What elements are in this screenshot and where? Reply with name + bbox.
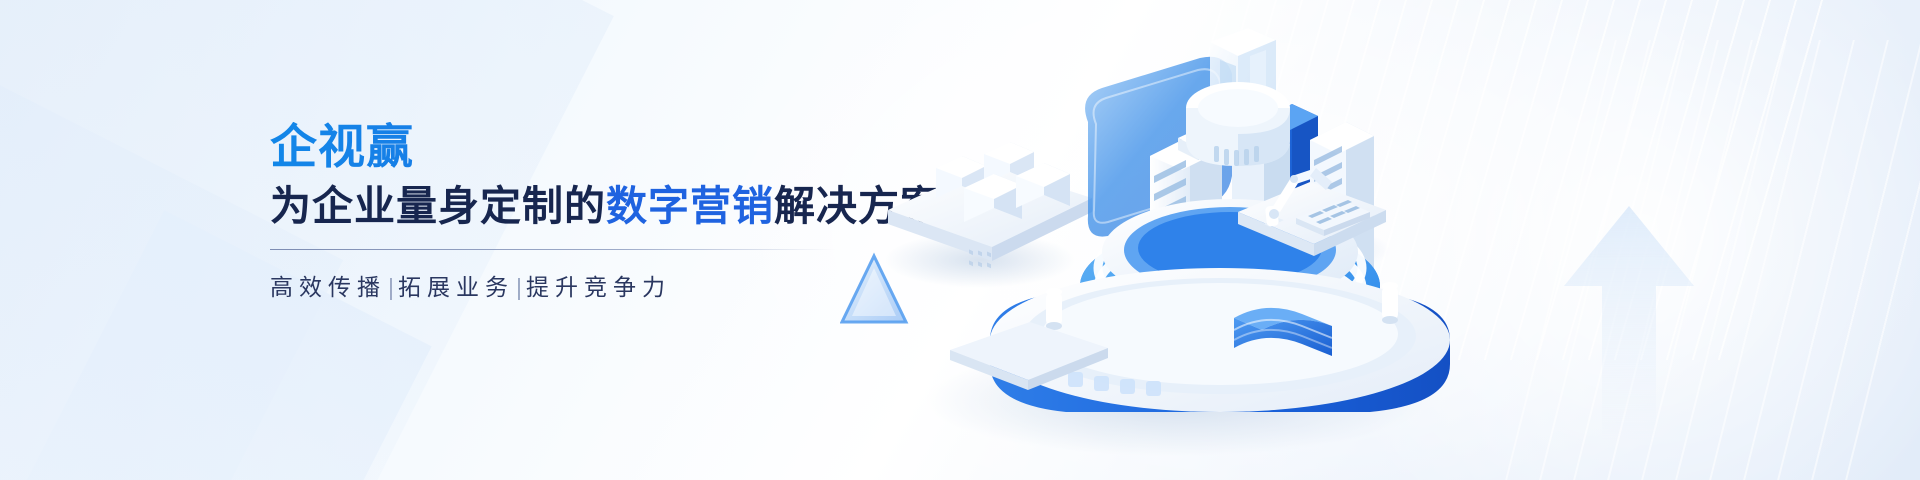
subtitle-item-3: 提升竞争力 (526, 274, 671, 300)
divider (270, 249, 835, 250)
headline-prefix: 为企业量身定制的 (270, 183, 606, 229)
support-pin-left (1046, 288, 1062, 330)
banner-text-block: 企视赢 为企业量身定制的数字营销解决方案 高效传播|拓展业务|提升竞争力 (270, 122, 890, 303)
subtitle-separator-2: | (516, 274, 522, 300)
marketing-banner: 企视赢 为企业量身定制的数字营销解决方案 高效传播|拓展业务|提升竞争力 (0, 0, 1920, 480)
illustration-svg (840, 0, 1920, 480)
subtitle-item-2: 拓展业务 (398, 274, 514, 300)
headline-highlight: 数字营销 (606, 183, 774, 229)
support-pin-right (1382, 282, 1398, 324)
subtitle-item-1: 高效传播 (270, 274, 386, 300)
white-cylinder-capsule (1186, 82, 1290, 166)
subtitle: 高效传播|拓展业务|提升竞争力 (270, 273, 890, 303)
brand-title: 企视赢 (270, 122, 890, 173)
hero-illustration (840, 0, 1920, 480)
subtitle-separator-1: | (388, 274, 394, 300)
headline: 为企业量身定制的数字营销解决方案 (270, 184, 890, 230)
